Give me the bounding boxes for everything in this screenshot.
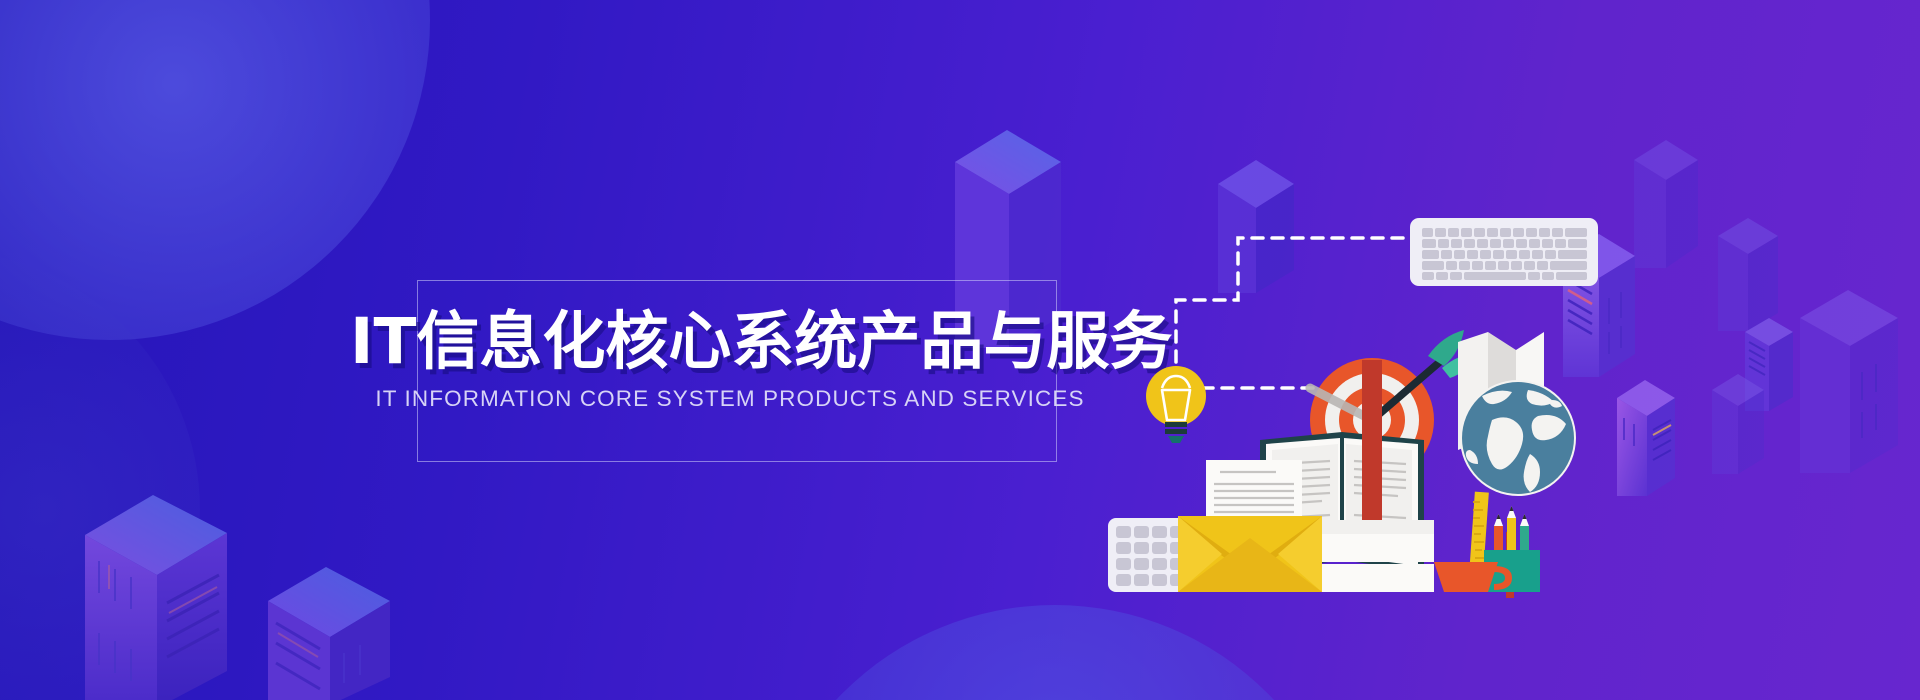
page-title: IT信息化核心系统产品与服务 — [350, 310, 1110, 373]
page-subtitle: IT INFORMATION CORE SYSTEM PRODUCTS AND … — [350, 386, 1110, 412]
tower-right-g-decor — [1712, 372, 1797, 474]
top-left-circle-decor — [0, 0, 430, 340]
tower-left-short-decor — [268, 565, 448, 700]
tower-right-d-decor — [1745, 316, 1825, 411]
headline-block: IT信息化核心系统产品与服务 IT INFORMATION CORE SYSTE… — [350, 310, 1110, 412]
mid-left-circle-decor — [0, 250, 200, 700]
tower-right-f-decor — [1617, 378, 1712, 496]
envelope-icon — [1178, 516, 1322, 592]
globe-icon — [1460, 380, 1576, 496]
it-services-banner: IT信息化核心系统产品与服务 IT INFORMATION CORE SYSTE… — [0, 0, 1920, 700]
tower-right-c-decor — [1718, 216, 1813, 331]
it-desk-illustration — [1110, 120, 1570, 580]
lightbulb-icon — [1146, 366, 1206, 443]
tower-left-tall-decor — [85, 493, 295, 700]
tower-right-a-decor — [1634, 138, 1734, 268]
tower-right-e-decor — [1800, 288, 1920, 473]
bottom-center-circle-decor — [755, 605, 1355, 700]
keyboard-top-icon — [1410, 218, 1598, 286]
